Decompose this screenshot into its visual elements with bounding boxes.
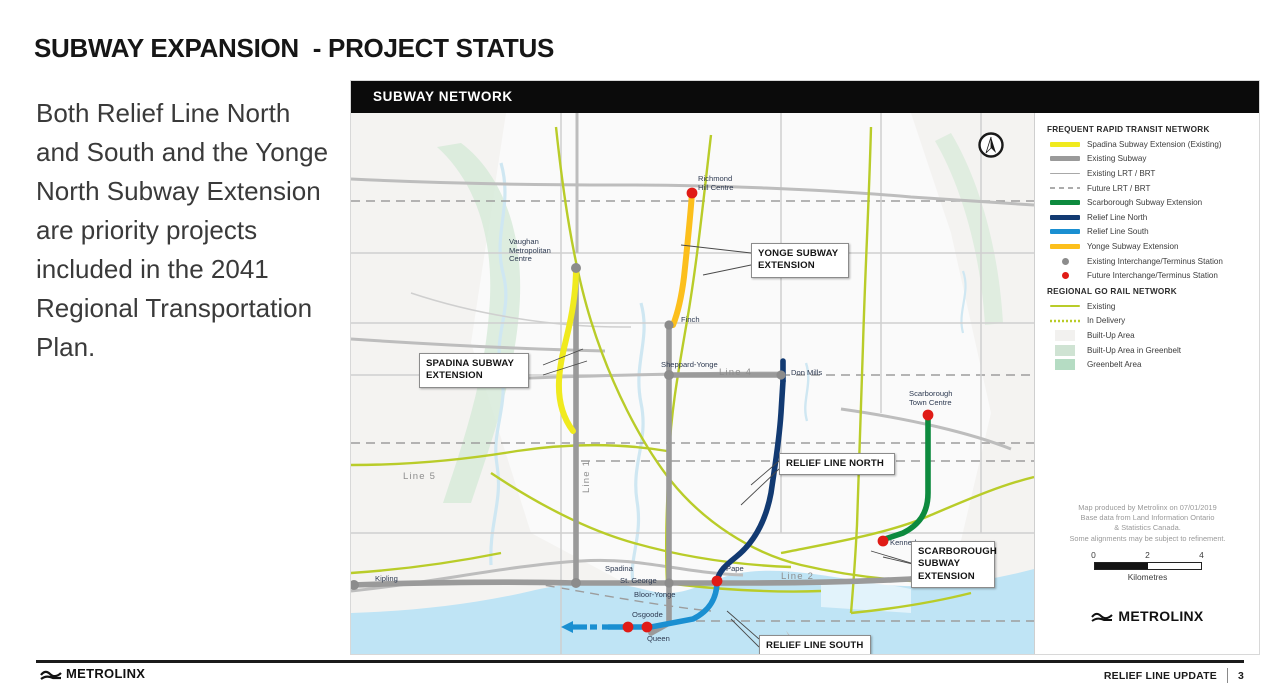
footer-deck-title: RELIEF LINE UPDATE bbox=[1104, 670, 1217, 682]
map-label-line-2: Line 2 bbox=[781, 573, 814, 582]
callout-spadina-subway-extension[interactable]: SPADINA SUBWAY EXTENSION bbox=[419, 353, 529, 388]
legend-swatch-icon bbox=[1043, 181, 1087, 195]
footer-divider bbox=[36, 660, 1244, 663]
map-metrolinx-logo: METROLINX bbox=[1034, 608, 1260, 624]
callout-relief-line-south[interactable]: RELIEF LINE SOUTH bbox=[759, 635, 871, 655]
map-label-kipling: Kipling bbox=[375, 575, 398, 584]
map-label-spadina-station: Spadina bbox=[605, 565, 633, 574]
legend-item-label: Existing LRT / BRT bbox=[1087, 169, 1155, 178]
legend-item-label: Existing bbox=[1087, 302, 1115, 311]
map-label-sheppard-yonge: Sheppard-Yonge bbox=[661, 361, 718, 370]
metrolinx-mark-icon bbox=[40, 667, 62, 681]
map-label-don-mills: Don Mills bbox=[791, 369, 822, 378]
map-label-vaughan-metro-centre: Vaughan Metropolitan Centre bbox=[509, 238, 551, 264]
compass-icon bbox=[980, 134, 1003, 157]
legend-swatch-icon bbox=[1043, 343, 1087, 357]
map-label-pape: Pape bbox=[726, 565, 744, 574]
scale-tick-2: 2 bbox=[1145, 550, 1150, 560]
scale-tick-4: 4 bbox=[1199, 550, 1204, 560]
metrolinx-mark-icon bbox=[1091, 609, 1113, 623]
legend-group-frequent-rapid-transit: Spadina Subway Extension (Existing) Exis… bbox=[1043, 137, 1253, 283]
map-body: Richmond Hill Centre Vaughan Metropolita… bbox=[351, 113, 1260, 655]
legend-item-scarborough-subway-extension: Scarborough Subway Extension bbox=[1043, 195, 1253, 210]
map-brand-text: METROLINX bbox=[1118, 608, 1203, 624]
legend-swatch-icon bbox=[1043, 314, 1087, 328]
footer-meta: RELIEF LINE UPDATE 3 bbox=[1104, 668, 1244, 683]
legend-item-existing-subway: Existing Subway bbox=[1043, 152, 1253, 167]
map-label-st-george: St. George bbox=[620, 577, 657, 586]
legend-swatch-icon bbox=[1043, 210, 1087, 224]
legend-item-go-existing: Existing bbox=[1043, 299, 1253, 314]
legend-item-label: Relief Line South bbox=[1087, 227, 1149, 236]
legend-item-label: Future Interchange/Terminus Station bbox=[1087, 271, 1218, 280]
footer-separator bbox=[1227, 668, 1228, 683]
existing-station-dot-icon bbox=[1043, 254, 1087, 268]
legend-item-label: Spadina Subway Extension (Existing) bbox=[1087, 140, 1222, 149]
map-label-line-1: Line 1 bbox=[583, 460, 592, 493]
legend-swatch-icon bbox=[1043, 358, 1087, 372]
scale-unit-label: Kilometres bbox=[1034, 572, 1260, 582]
legend-swatch-icon bbox=[1043, 239, 1087, 253]
legend-item-label: Greenbelt Area bbox=[1087, 360, 1141, 369]
map-label-line-4: Line 4 bbox=[719, 369, 752, 378]
legend-item-label: Scarborough Subway Extension bbox=[1087, 198, 1202, 207]
legend-swatch-icon bbox=[1043, 152, 1087, 166]
legend-item-label: Built-Up Area in Greenbelt bbox=[1087, 346, 1181, 355]
map-label-richmond-hill-centre: Richmond Hill Centre bbox=[698, 175, 733, 192]
map-label-bloor-yonge: Bloor-Yonge bbox=[634, 591, 676, 600]
map-label-queen: Queen bbox=[647, 635, 670, 644]
map-header-title: SUBWAY NETWORK bbox=[351, 81, 1260, 113]
footer-page-number: 3 bbox=[1238, 670, 1244, 682]
footer-brand-text: METROLINX bbox=[66, 666, 145, 681]
legend-item-label: Yonge Subway Extension bbox=[1087, 242, 1179, 251]
legend-item-label: Future LRT / BRT bbox=[1087, 184, 1150, 193]
future-station-dot-icon bbox=[1043, 269, 1087, 283]
map-label-osgoode: Osgoode bbox=[632, 611, 663, 620]
map-label-finch: Finch bbox=[681, 316, 700, 325]
legend-item-greenbelt-area: Greenbelt Area bbox=[1043, 357, 1253, 372]
legend-swatch-icon bbox=[1043, 299, 1087, 313]
legend-item-label: Existing Interchange/Terminus Station bbox=[1087, 257, 1223, 266]
legend-item-existing-interchange-station: Existing Interchange/Terminus Station bbox=[1043, 254, 1253, 269]
map-label-line-5: Line 5 bbox=[403, 473, 436, 482]
legend-item-go-in-delivery: In Delivery bbox=[1043, 314, 1253, 329]
slide-body-text: Both Relief Line North and South and the… bbox=[36, 94, 336, 367]
legend-swatch-icon bbox=[1043, 196, 1087, 210]
scale-bar-graphic bbox=[1094, 562, 1202, 570]
map-credit-text: Map produced by Metrolinx on 07/01/2019 … bbox=[1034, 503, 1260, 544]
legend-swatch-icon bbox=[1043, 137, 1087, 151]
footer-metrolinx-logo: METROLINX bbox=[40, 666, 145, 681]
map-label-scarborough-town-centre: Scarborough Town Centre bbox=[909, 390, 952, 407]
callout-yonge-subway-extension[interactable]: YONGE SUBWAY EXTENSION bbox=[751, 243, 849, 278]
scale-tick-labels: 0 2 4 bbox=[1094, 550, 1202, 562]
legend-swatch-icon bbox=[1043, 166, 1087, 180]
callout-relief-line-north[interactable]: RELIEF LINE NORTH bbox=[779, 453, 895, 475]
legend-item-built-up-area: Built-Up Area bbox=[1043, 328, 1253, 343]
legend-swatch-icon bbox=[1043, 328, 1087, 342]
legend-group-regional-go-rail: Existing In Delivery Built-Up Area Built… bbox=[1043, 299, 1253, 372]
legend-item-relief-line-north: Relief Line North bbox=[1043, 210, 1253, 225]
map-canvas[interactable]: Richmond Hill Centre Vaughan Metropolita… bbox=[351, 113, 1034, 655]
legend-item-label: Relief Line North bbox=[1087, 213, 1147, 222]
legend-item-label: Built-Up Area bbox=[1087, 331, 1135, 340]
map-card: SUBWAY NETWORK bbox=[350, 80, 1260, 655]
legend-item-existing-lrt-brt: Existing LRT / BRT bbox=[1043, 166, 1253, 181]
map-scale-bar: 0 2 4 Kilometres bbox=[1034, 550, 1260, 582]
callout-scarborough-subway-extension[interactable]: SCARBOROUGH SUBWAY EXTENSION bbox=[911, 541, 995, 588]
legend-item-relief-line-south: Relief Line South bbox=[1043, 225, 1253, 240]
legend-item-future-lrt-brt: Future LRT / BRT bbox=[1043, 181, 1253, 196]
legend-swatch-icon bbox=[1043, 225, 1087, 239]
legend-item-label: Existing Subway bbox=[1087, 154, 1146, 163]
legend-item-future-interchange-station: Future Interchange/Terminus Station bbox=[1043, 268, 1253, 283]
page-title: SUBWAY EXPANSION - PROJECT STATUS bbox=[34, 33, 554, 64]
legend-item-built-up-area-greenbelt: Built-Up Area in Greenbelt bbox=[1043, 343, 1253, 358]
legend-heading-regional-go-rail: REGIONAL GO RAIL NETWORK bbox=[1047, 287, 1253, 296]
legend-heading-frequent-rapid-transit: FREQUENT RAPID TRANSIT NETWORK bbox=[1047, 125, 1253, 134]
scale-tick-0: 0 bbox=[1091, 550, 1096, 560]
legend-item-spadina-subway-extension: Spadina Subway Extension (Existing) bbox=[1043, 137, 1253, 152]
legend-item-label: In Delivery bbox=[1087, 316, 1125, 325]
legend-item-yonge-subway-extension: Yonge Subway Extension bbox=[1043, 239, 1253, 254]
